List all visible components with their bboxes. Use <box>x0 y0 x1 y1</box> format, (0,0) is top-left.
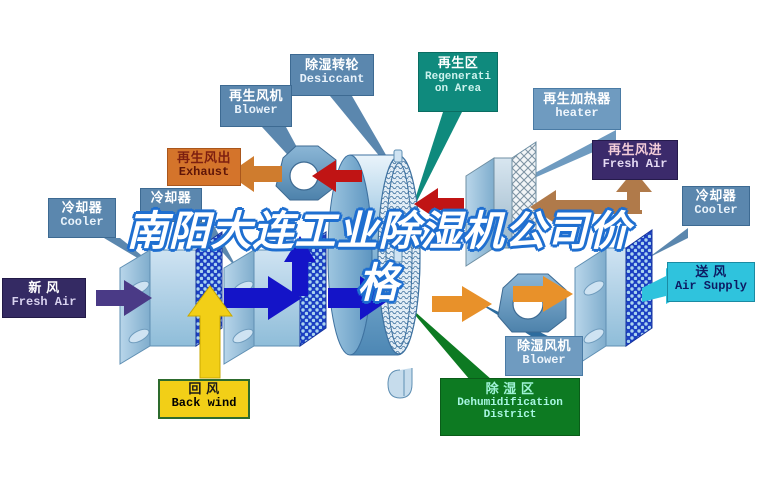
label-cooler-mid-cn: 冷却器 <box>141 191 201 206</box>
label-regen-heater-cn: 再生加热器 <box>534 92 620 107</box>
label-dehum-district-cn-a: 除 <box>486 381 500 396</box>
label-cooler-left-cn: 冷却器 <box>49 201 115 216</box>
label-desiccant-rotor: 除湿转轮 Desiccant <box>290 54 374 96</box>
desiccant-rotor <box>328 150 420 398</box>
label-dehum-district-cn-c: 区 <box>521 381 535 396</box>
label-cooler-right-en: Cooler <box>683 204 749 217</box>
label-regeneration-area-en2: on Area <box>419 83 497 95</box>
flow-riser-right <box>440 250 456 296</box>
flow-riser-mid <box>392 252 406 290</box>
label-dehum-blower-cn: 除湿风机 <box>506 339 582 354</box>
label-regen-fresh-air: 再生风进 Fresh Air <box>592 140 678 180</box>
label-air-supply-en: Air Supply <box>668 280 754 293</box>
label-dehum-district-cn-b: 湿 <box>503 381 517 396</box>
label-dehum-blower: 除湿风机 Blower <box>505 336 583 376</box>
label-fresh-air-cn-a: 新 <box>28 280 42 295</box>
flow-hot-regen-air <box>414 188 464 220</box>
label-air-supply: 送 风 Air Supply <box>667 262 755 302</box>
label-regen-blower-cn: 再生风机 <box>221 89 291 104</box>
label-air-supply-cn: 送 风 <box>668 265 754 280</box>
label-air-supply-cn-a: 送 <box>695 264 709 279</box>
label-dehumidification-district: 除 湿 区 Dehumidification District <box>440 378 580 436</box>
label-dehum-district-en: Dehumidification <box>441 397 579 409</box>
label-fresh-air-cn-b: 风 <box>46 280 60 295</box>
label-back-wind: 回 风 Back wind <box>158 379 250 419</box>
label-back-wind-cn: 回 风 <box>160 382 248 397</box>
label-air-supply-cn-b: 风 <box>713 264 727 279</box>
label-fresh-air: 新 风 Fresh Air <box>2 278 86 318</box>
label-regeneration-area: 再生区 Regenerati on Area <box>418 52 498 112</box>
dehumidifier-process-diagram: 除湿转轮 Desiccant 再生风机 Blower 再生风出 Exhaust … <box>0 0 757 488</box>
label-cooler-right-cn: 冷却器 <box>683 189 749 204</box>
label-cooler-mid: 冷却器 <box>140 188 202 222</box>
label-regen-heater: 再生加热器 heater <box>533 88 621 130</box>
label-regen-exhaust: 再生风出 Exhaust <box>167 148 241 186</box>
label-regen-exhaust-en: Exhaust <box>168 166 240 179</box>
label-dehum-district-en2: District <box>441 409 579 421</box>
label-regen-blower-en: Blower <box>221 104 291 117</box>
label-cooler-left-en: Cooler <box>49 216 115 229</box>
label-back-wind-en: Back wind <box>160 397 248 410</box>
label-regen-fresh-air-en: Fresh Air <box>593 158 677 171</box>
regeneration-heater <box>466 142 536 266</box>
label-dehum-blower-en: Blower <box>506 354 582 367</box>
diagram-graphics-layer <box>0 0 757 488</box>
label-regen-heater-en: heater <box>534 107 620 120</box>
label-regen-fresh-air-cn: 再生风进 <box>593 143 677 158</box>
label-cooler-right: 冷却器 Cooler <box>682 186 750 226</box>
label-regeneration-area-cn: 再生区 <box>419 56 497 71</box>
label-regen-exhaust-cn: 再生风出 <box>168 151 240 166</box>
label-fresh-air-cn: 新 风 <box>3 281 85 296</box>
label-fresh-air-en: Fresh Air <box>3 296 85 309</box>
cooler-unit-right <box>575 230 652 366</box>
label-back-wind-cn-b: 风 <box>206 381 220 396</box>
label-desiccant-rotor-cn: 除湿转轮 <box>291 58 373 73</box>
label-dehum-district-cn: 除 湿 区 <box>441 382 579 397</box>
label-back-wind-cn-a: 回 <box>188 381 202 396</box>
label-regen-blower: 再生风机 Blower <box>220 85 292 127</box>
label-regeneration-area-en: Regenerati <box>419 71 497 83</box>
label-desiccant-rotor-en: Desiccant <box>291 73 373 86</box>
label-cooler-left: 冷却器 Cooler <box>48 198 116 238</box>
